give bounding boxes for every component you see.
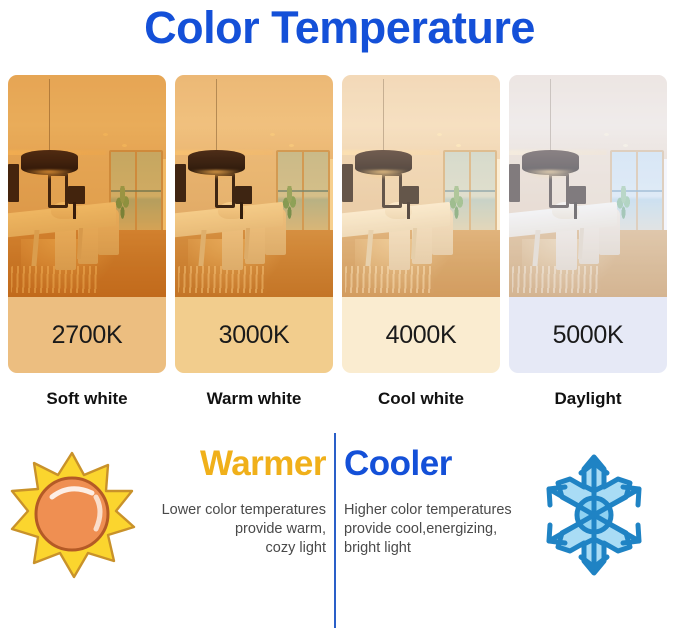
comparison-section: Warmer Lower color temperatures provide … bbox=[0, 425, 679, 638]
caption-cool-white: Cool white bbox=[342, 389, 500, 415]
kelvin-label: 5000K bbox=[553, 321, 624, 350]
cooler-text-block: Cooler Higher color temperatures provide… bbox=[344, 443, 544, 558]
cooler-side: Cooler Higher color temperatures provide… bbox=[336, 425, 670, 638]
kelvin-band-3000k: 3000K bbox=[175, 297, 333, 373]
warmer-side: Warmer Lower color temperatures provide … bbox=[0, 425, 334, 638]
caption-daylight: Daylight bbox=[509, 389, 667, 415]
warmer-description-line-2: provide warm, bbox=[130, 520, 326, 539]
cooler-description-line-1: Higher color temperatures bbox=[344, 501, 544, 520]
warmer-description-line-3: cozy light bbox=[130, 539, 326, 558]
snowflake-icon bbox=[526, 447, 662, 583]
warmer-description: Lower color temperatures provide warm, c… bbox=[130, 501, 326, 558]
kelvin-label: 4000K bbox=[386, 321, 457, 350]
warmer-heading: Warmer bbox=[130, 443, 326, 485]
warmer-text-block: Warmer Lower color temperatures provide … bbox=[130, 443, 326, 558]
room-photo-4000k bbox=[342, 75, 500, 297]
temperature-panel-row: 2700K bbox=[8, 75, 671, 373]
caption-warm-white: Warm white bbox=[175, 389, 333, 415]
cooler-description: Higher color temperatures provide cool,e… bbox=[344, 501, 544, 558]
kelvin-band-4000k: 4000K bbox=[342, 297, 500, 373]
caption-row: Soft white Warm white Cool white Dayligh… bbox=[8, 389, 671, 415]
cooler-description-line-3: bright light bbox=[344, 539, 544, 558]
sun-icon bbox=[4, 447, 140, 583]
temperature-panel-4000k[interactable]: 4000K bbox=[342, 75, 500, 373]
kelvin-band-2700k: 2700K bbox=[8, 297, 166, 373]
temperature-panel-2700k[interactable]: 2700K bbox=[8, 75, 166, 373]
kelvin-label: 3000K bbox=[219, 321, 290, 350]
kelvin-label: 2700K bbox=[52, 321, 123, 350]
temperature-panel-3000k[interactable]: 3000K bbox=[175, 75, 333, 373]
cooler-description-line-2: provide cool,energizing, bbox=[344, 520, 544, 539]
room-photo-2700k bbox=[8, 75, 166, 297]
color-temperature-infographic: Color Temperature bbox=[0, 0, 679, 638]
room-photo-3000k bbox=[175, 75, 333, 297]
temperature-panel-5000k[interactable]: 5000K bbox=[509, 75, 667, 373]
kelvin-band-5000k: 5000K bbox=[509, 297, 667, 373]
cooler-heading: Cooler bbox=[344, 443, 544, 485]
caption-soft-white: Soft white bbox=[8, 389, 166, 415]
room-photo-5000k bbox=[509, 75, 667, 297]
page-title: Color Temperature bbox=[0, 2, 679, 54]
warmer-description-line-1: Lower color temperatures bbox=[130, 501, 326, 520]
